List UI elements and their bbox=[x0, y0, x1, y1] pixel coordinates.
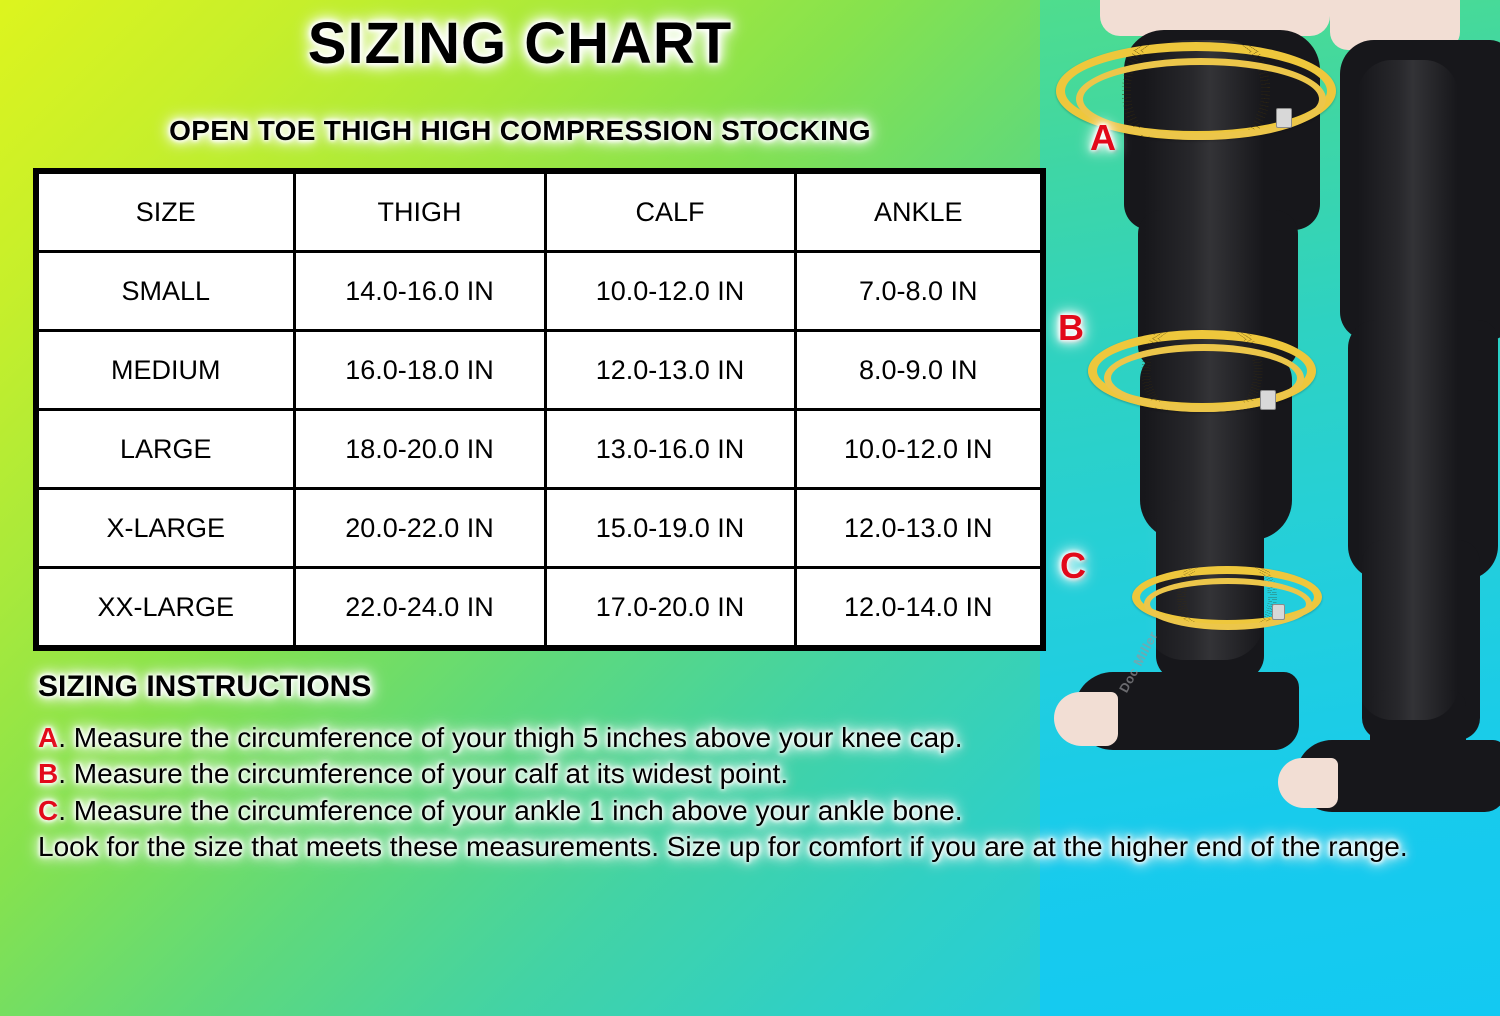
instruction-letter-c: C bbox=[38, 795, 58, 826]
marker-c: C bbox=[1060, 548, 1086, 584]
cell-thigh: 22.0-24.0 IN bbox=[294, 568, 545, 649]
cell-ankle: 7.0-8.0 IN bbox=[795, 252, 1043, 331]
cell-calf: 12.0-13.0 IN bbox=[545, 331, 795, 410]
marker-a: A bbox=[1090, 120, 1116, 156]
cell-thigh: 14.0-16.0 IN bbox=[294, 252, 545, 331]
cell-thigh: 16.0-18.0 IN bbox=[294, 331, 545, 410]
cell-size: LARGE bbox=[36, 410, 294, 489]
cell-size: MEDIUM bbox=[36, 331, 294, 410]
instruction-text-b: . Measure the circumference of your calf… bbox=[58, 758, 788, 789]
instruction-text-a: . Measure the circumference of your thig… bbox=[58, 722, 962, 753]
cell-ankle: 10.0-12.0 IN bbox=[795, 410, 1043, 489]
cell-calf: 13.0-16.0 IN bbox=[545, 410, 795, 489]
instruction-text-c: . Measure the circumference of your ankl… bbox=[58, 795, 962, 826]
sizing-instructions: SIZING INSTRUCTIONS A. Measure the circu… bbox=[38, 670, 1428, 866]
table-row: LARGE 18.0-20.0 IN 13.0-16.0 IN 10.0-12.… bbox=[36, 410, 1043, 489]
tape-clip-ankle bbox=[1272, 604, 1285, 620]
instructions-footer: Look for the size that meets these measu… bbox=[38, 829, 1428, 865]
cell-ankle: 8.0-9.0 IN bbox=[795, 331, 1043, 410]
column-header-size: SIZE bbox=[36, 171, 294, 252]
cell-ankle: 12.0-14.0 IN bbox=[795, 568, 1043, 649]
table-row: X-LARGE 20.0-22.0 IN 15.0-19.0 IN 12.0-1… bbox=[36, 489, 1043, 568]
cell-ankle: 12.0-13.0 IN bbox=[795, 489, 1043, 568]
instruction-item-c: C. Measure the circumference of your ank… bbox=[38, 793, 1428, 829]
instruction-item-b: B. Measure the circumference of your cal… bbox=[38, 756, 1428, 792]
tape-clip-calf bbox=[1260, 390, 1276, 410]
instructions-heading: SIZING INSTRUCTIONS bbox=[38, 670, 1428, 704]
cell-size: SMALL bbox=[36, 252, 294, 331]
leg-sheen-right bbox=[1358, 60, 1458, 720]
marker-b: B bbox=[1058, 310, 1084, 346]
column-header-thigh: THIGH bbox=[294, 171, 545, 252]
cell-calf: 15.0-19.0 IN bbox=[545, 489, 795, 568]
column-header-calf: CALF bbox=[545, 171, 795, 252]
cell-thigh: 20.0-22.0 IN bbox=[294, 489, 545, 568]
instruction-letter-b: B bbox=[38, 758, 58, 789]
instruction-item-a: A. Measure the circumference of your thi… bbox=[38, 720, 1428, 756]
instruction-letter-a: A bbox=[38, 722, 58, 753]
cell-size: X-LARGE bbox=[36, 489, 294, 568]
sizing-chart-page: Doc Miller A B C SIZING CHART OPEN TOE T… bbox=[0, 0, 1500, 1016]
table-row: SMALL 14.0-16.0 IN 10.0-12.0 IN 7.0-8.0 … bbox=[36, 252, 1043, 331]
cell-calf: 17.0-20.0 IN bbox=[545, 568, 795, 649]
tape-clip-thigh bbox=[1276, 108, 1292, 128]
cell-size: XX-LARGE bbox=[36, 568, 294, 649]
tape-inner-ankle bbox=[1144, 578, 1312, 630]
cell-calf: 10.0-12.0 IN bbox=[545, 252, 795, 331]
cell-thigh: 18.0-20.0 IN bbox=[294, 410, 545, 489]
page-subtitle: OPEN TOE THIGH HIGH COMPRESSION STOCKING bbox=[0, 115, 1040, 147]
table-row: MEDIUM 16.0-18.0 IN 12.0-13.0 IN 8.0-9.0… bbox=[36, 331, 1043, 410]
table-row: XX-LARGE 22.0-24.0 IN 17.0-20.0 IN 12.0-… bbox=[36, 568, 1043, 649]
sizing-table: SIZE THIGH CALF ANKLE SMALL 14.0-16.0 IN… bbox=[33, 168, 1046, 651]
column-header-ankle: ANKLE bbox=[795, 171, 1043, 252]
page-title: SIZING CHART bbox=[0, 10, 1040, 77]
table-header-row: SIZE THIGH CALF ANKLE bbox=[36, 171, 1043, 252]
